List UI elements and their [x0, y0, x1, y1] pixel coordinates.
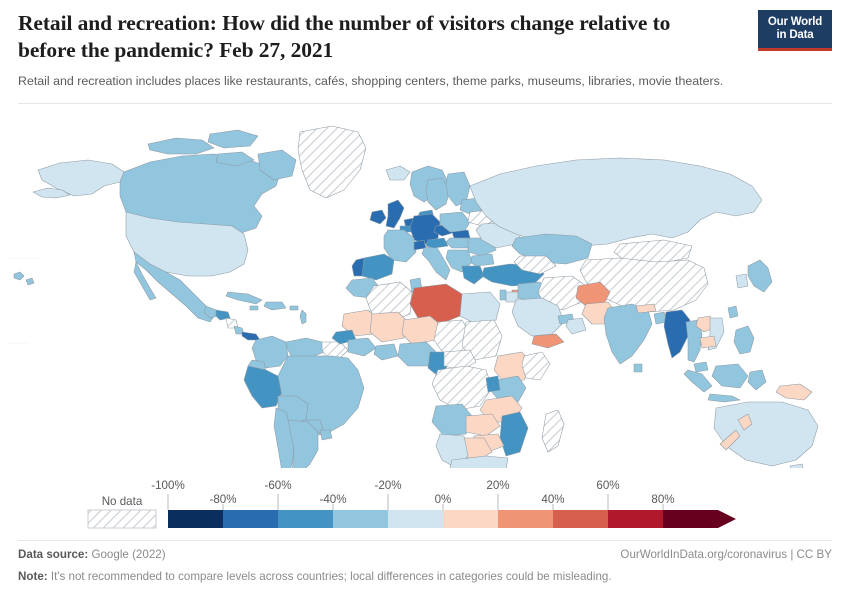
country-united-kingdom[interactable] — [386, 200, 404, 228]
world-map-svg[interactable] — [0, 108, 850, 468]
chart-footer: Data source: Google (2022) OurWorldInDat… — [18, 548, 832, 583]
country-india[interactable] — [604, 304, 652, 364]
country-sumatra[interactable] — [684, 370, 712, 392]
legend-color-bins[interactable] — [168, 510, 736, 528]
country-portugal[interactable] — [352, 258, 364, 276]
country-oman[interactable] — [566, 318, 586, 334]
legend-tick-7: 40% — [541, 493, 564, 506]
country-sulawesi[interactable] — [748, 370, 766, 390]
map-legend[interactable]: No data — [0, 472, 850, 536]
legend-bin-3[interactable] — [333, 510, 388, 528]
legend-bin-8[interactable] — [608, 510, 663, 528]
world-map[interactable] — [0, 108, 850, 468]
country-panama[interactable] — [242, 332, 260, 340]
legend-bin-5[interactable] — [443, 510, 498, 528]
footer-note-row: Note: It's not recommended to compare le… — [18, 570, 832, 583]
legend-tick-labels-lower: -80% -40% 0% 40% 80% — [209, 493, 674, 506]
country-canada-arctic-1[interactable] — [148, 138, 214, 154]
chart-subtitle: Retail and recreation includes places li… — [18, 73, 808, 90]
country-mozambique[interactable] — [500, 412, 528, 456]
legend-tick-2: -60% — [264, 479, 291, 492]
legend-tick-labels-upper: -100% -60% -20% 20% 60% — [151, 479, 619, 492]
country-canada-arctic-2[interactable] — [208, 130, 258, 148]
logo-line-2: in Data — [762, 29, 828, 42]
country-guinea-region[interactable] — [348, 338, 376, 356]
country-peru[interactable] — [244, 366, 282, 408]
legend-tick-4: -20% — [374, 479, 401, 492]
data-source: Data source: Google (2022) — [18, 548, 166, 561]
country-iceland[interactable] — [386, 166, 410, 180]
country-cuba[interactable] — [226, 292, 262, 304]
note-value: It's not recommended to compare levels a… — [51, 570, 612, 583]
footer-divider — [18, 540, 832, 541]
legend-tick-5: 0% — [435, 493, 452, 506]
country-myanmar[interactable] — [664, 310, 690, 358]
country-italy[interactable] — [422, 246, 450, 280]
legend-no-data-swatch[interactable] — [88, 510, 156, 528]
legend-bin-0[interactable] — [168, 510, 223, 528]
logo-line-1: Our World — [762, 16, 828, 29]
legend-tick-marks — [168, 494, 663, 510]
country-ireland[interactable] — [370, 210, 386, 224]
legend-tick-3: -40% — [319, 493, 346, 506]
country-ghana[interactable] — [374, 344, 398, 360]
legend-svg[interactable]: No data — [0, 472, 850, 536]
country-madagascar[interactable] — [542, 410, 564, 452]
legend-bin-2[interactable] — [278, 510, 333, 528]
country-egypt[interactable] — [460, 292, 500, 324]
legend-tick-0: -100% — [151, 479, 185, 492]
legend-tick-1: -80% — [209, 493, 236, 506]
country-philippines[interactable] — [734, 326, 754, 354]
country-cambodia[interactable] — [700, 336, 716, 348]
country-malaysia[interactable] — [694, 362, 708, 372]
country-japan[interactable] — [748, 260, 772, 292]
country-guyanas[interactable] — [322, 342, 348, 358]
data-source-label: Data source: — [18, 548, 88, 561]
legend-no-data-label: No data — [102, 495, 143, 508]
country-hispaniola[interactable] — [264, 302, 286, 310]
data-source-value: Google (2022) — [91, 548, 165, 561]
country-puerto-rico[interactable] — [290, 306, 298, 310]
country-shapes[interactable] — [14, 126, 818, 468]
country-greece[interactable] — [462, 266, 484, 284]
header-divider — [18, 103, 832, 104]
footer-source-row: Data source: Google (2022) OurWorldInDat… — [18, 548, 832, 565]
country-taiwan[interactable] — [728, 306, 738, 318]
legend-bin-1[interactable] — [223, 510, 278, 528]
country-israel[interactable] — [500, 290, 506, 300]
country-borneo[interactable] — [712, 364, 748, 388]
chart-header: Retail and recreation: How did the numbe… — [18, 10, 832, 90]
country-hawaii-2[interactable] — [26, 278, 34, 285]
page-title: Retail and recreation: How did the numbe… — [18, 10, 708, 64]
country-papua-new-guinea[interactable] — [776, 384, 812, 400]
country-south-korea[interactable] — [736, 274, 748, 288]
country-jamaica[interactable] — [250, 306, 258, 310]
attribution-link[interactable]: OurWorldInData.org/coronavirus | CC BY — [620, 548, 832, 561]
country-venezuela[interactable] — [286, 338, 324, 358]
title-date: Feb 27, 2021 — [219, 38, 333, 62]
country-sri-lanka[interactable] — [634, 364, 642, 372]
country-bulgaria[interactable] — [470, 254, 494, 266]
legend-bin-4[interactable] — [388, 510, 443, 528]
legend-bin-6[interactable] — [498, 510, 553, 528]
country-russia[interactable] — [470, 158, 762, 246]
legend-no-data[interactable]: No data — [88, 495, 156, 528]
country-tasmania[interactable] — [790, 464, 804, 468]
country-lesser-antilles[interactable] — [300, 310, 306, 324]
legend-bin-9-arrow[interactable] — [663, 510, 736, 528]
graticule-lines — [8, 258, 40, 343]
country-mali[interactable] — [370, 312, 408, 342]
legend-tick-8: 60% — [596, 479, 619, 492]
country-hungary[interactable] — [446, 238, 470, 248]
country-uganda[interactable] — [486, 376, 500, 392]
legend-tick-6: 20% — [486, 479, 509, 492]
our-world-in-data-logo[interactable]: Our World in Data — [758, 10, 832, 51]
country-hawaii[interactable] — [14, 272, 24, 280]
country-australia[interactable] — [714, 402, 818, 466]
country-drc[interactable] — [432, 366, 492, 410]
owid-map-chart: Retail and recreation: How did the numbe… — [0, 0, 850, 600]
country-yemen[interactable] — [532, 334, 564, 348]
legend-tick-9: 80% — [651, 493, 674, 506]
legend-bin-7[interactable] — [553, 510, 608, 528]
country-java[interactable] — [708, 394, 740, 402]
title-text: Retail and recreation: How did the numbe… — [18, 11, 670, 62]
country-somalia[interactable] — [522, 352, 550, 380]
attribution[interactable]: OurWorldInData.org/coronavirus | CC BY — [620, 548, 832, 561]
country-uruguay[interactable] — [320, 430, 332, 440]
note-label: Note: — [18, 570, 48, 583]
country-greenland[interactable] — [298, 126, 366, 198]
